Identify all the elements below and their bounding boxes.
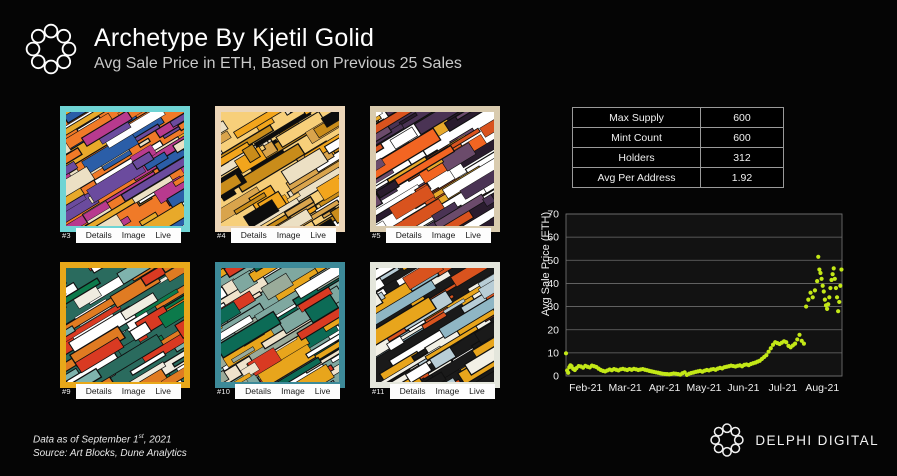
- stat-label: Mint Count: [573, 128, 701, 148]
- nft-artwork[interactable]: [370, 106, 500, 232]
- nft-live-button[interactable]: Live: [305, 228, 331, 243]
- nft-art-canvas: [376, 112, 494, 226]
- chart-x-tick: Jun-21: [727, 382, 759, 394]
- dashboard-canvas: Archetype By Kjetil Golid Avg Sale Price…: [0, 0, 897, 476]
- chart-x-tick: Feb-21: [569, 382, 602, 394]
- nft-caption: #11DetailsImageLive: [372, 384, 495, 399]
- nft-live-button[interactable]: Live: [150, 228, 176, 243]
- nft-token-id: #11: [372, 387, 390, 396]
- nft-artwork[interactable]: [370, 262, 500, 388]
- nft-artwork[interactable]: [60, 262, 190, 388]
- nft-caption: #3DetailsImageLive: [62, 228, 181, 243]
- stat-value: 600: [700, 128, 783, 148]
- nft-art-canvas: [66, 268, 184, 382]
- stat-label: Avg Per Address: [573, 168, 701, 188]
- page-title: Archetype By Kjetil Golid: [94, 24, 462, 52]
- collection-stats-table: Max Supply600Mint Count600Holders312Avg …: [572, 107, 784, 188]
- nft-live-button[interactable]: Live: [460, 228, 486, 243]
- footnote-date-prefix: Data as of September 1: [33, 434, 139, 445]
- chart-x-tick: Jul-21: [769, 382, 798, 394]
- nft-button-group: DetailsImageLive: [235, 384, 340, 399]
- chart-y-tick: 40: [547, 278, 559, 290]
- nft-token-id: #5: [372, 231, 386, 240]
- chart-y-tick: 30: [547, 301, 559, 313]
- nft-details-button[interactable]: Details: [236, 228, 272, 243]
- nft-details-button[interactable]: Details: [81, 384, 117, 399]
- chart-y-tick: 10: [547, 347, 559, 359]
- nft-artwork[interactable]: [60, 106, 190, 232]
- nft-details-button[interactable]: Details: [81, 228, 117, 243]
- nft-art-canvas: [376, 268, 494, 382]
- nft-details-button[interactable]: Details: [240, 384, 276, 399]
- nft-card[interactable]: #11DetailsImageLive: [370, 262, 500, 410]
- nft-caption: #5DetailsImageLive: [372, 228, 491, 243]
- stat-value: 1.92: [700, 168, 783, 188]
- delphi-ring-icon: [22, 20, 80, 78]
- table-row: Holders312: [573, 148, 784, 168]
- chart-y-tick: 60: [547, 232, 559, 244]
- footnote-date-suffix: , 2021: [144, 434, 172, 445]
- table-row: Max Supply600: [573, 108, 784, 128]
- footnote-line-1: Data as of September 1st, 2021: [33, 430, 187, 447]
- delphi-ring-icon: [708, 421, 746, 459]
- stat-label: Holders: [573, 148, 701, 168]
- nft-image-button[interactable]: Image: [117, 384, 151, 399]
- nft-image-button[interactable]: Image: [272, 228, 306, 243]
- nft-art-canvas: [221, 268, 339, 382]
- nft-thumbnail-grid: #3DetailsImageLive#4DetailsImageLive#5De…: [60, 106, 520, 410]
- nft-image-button[interactable]: Image: [117, 228, 151, 243]
- page-subtitle: Avg Sale Price in ETH, Based on Previous…: [94, 54, 462, 73]
- stat-value: 312: [700, 148, 783, 168]
- nft-image-button[interactable]: Image: [427, 228, 461, 243]
- nft-caption: #4DetailsImageLive: [217, 228, 336, 243]
- footer-brand: DELPHI DIGITAL: [708, 421, 879, 459]
- stat-value: 600: [700, 108, 783, 128]
- chart-y-tick: 20: [547, 324, 559, 336]
- chart-x-tick: Apr-21: [649, 382, 681, 394]
- nft-artwork[interactable]: [215, 262, 345, 388]
- page-header: Archetype By Kjetil Golid Avg Sale Price…: [22, 20, 462, 78]
- nft-card[interactable]: #9DetailsImageLive: [60, 262, 190, 410]
- nft-token-id: #9: [62, 387, 76, 396]
- chart-y-tick: 50: [547, 255, 559, 267]
- nft-button-group: DetailsImageLive: [390, 384, 495, 399]
- nft-live-button[interactable]: Live: [310, 384, 336, 399]
- nft-details-button[interactable]: Details: [391, 228, 427, 243]
- nft-artwork[interactable]: [215, 106, 345, 232]
- nft-token-id: #4: [217, 231, 231, 240]
- nft-button-group: DetailsImageLive: [386, 228, 491, 243]
- nft-live-button[interactable]: Live: [464, 384, 490, 399]
- nft-button-group: DetailsImageLive: [76, 228, 181, 243]
- nft-image-button[interactable]: Image: [276, 384, 310, 399]
- chart-x-tick: May-21: [686, 382, 721, 394]
- nft-caption: #9DetailsImageLive: [62, 384, 181, 399]
- nft-art-canvas: [66, 112, 184, 226]
- chart-y-tick: 70: [547, 209, 559, 221]
- nft-card[interactable]: #3DetailsImageLive: [60, 106, 190, 254]
- chart-plot-area: 010203040506070Feb-21Mar-21Apr-21May-21J…: [524, 206, 854, 406]
- nft-card[interactable]: #5DetailsImageLive: [370, 106, 500, 254]
- avg-sale-price-chart: Avg Sale Price (ETH) 010203040506070Feb-…: [524, 206, 854, 406]
- nft-image-button[interactable]: Image: [431, 384, 465, 399]
- nft-token-id: #10: [217, 387, 235, 396]
- chart-x-tick: Mar-21: [609, 382, 642, 394]
- chart-y-tick: 0: [553, 371, 559, 383]
- nft-button-group: DetailsImageLive: [231, 228, 336, 243]
- nft-art-canvas: [221, 112, 339, 226]
- nft-card[interactable]: #4DetailsImageLive: [215, 106, 345, 254]
- nft-token-id: #3: [62, 231, 76, 240]
- nft-details-button[interactable]: Details: [395, 384, 431, 399]
- footnote-line-2: Source: Art Blocks, Dune Analytics: [33, 447, 187, 461]
- table-row: Avg Per Address1.92: [573, 168, 784, 188]
- stat-label: Max Supply: [573, 108, 701, 128]
- nft-card[interactable]: #10DetailsImageLive: [215, 262, 345, 410]
- table-row: Mint Count600: [573, 128, 784, 148]
- footnote: Data as of September 1st, 2021 Source: A…: [33, 430, 187, 461]
- nft-button-group: DetailsImageLive: [76, 384, 181, 399]
- chart-x-tick: Aug-21: [805, 382, 839, 394]
- nft-caption: #10DetailsImageLive: [217, 384, 340, 399]
- footer-brand-name: DELPHI DIGITAL: [755, 433, 879, 448]
- nft-live-button[interactable]: Live: [150, 384, 176, 399]
